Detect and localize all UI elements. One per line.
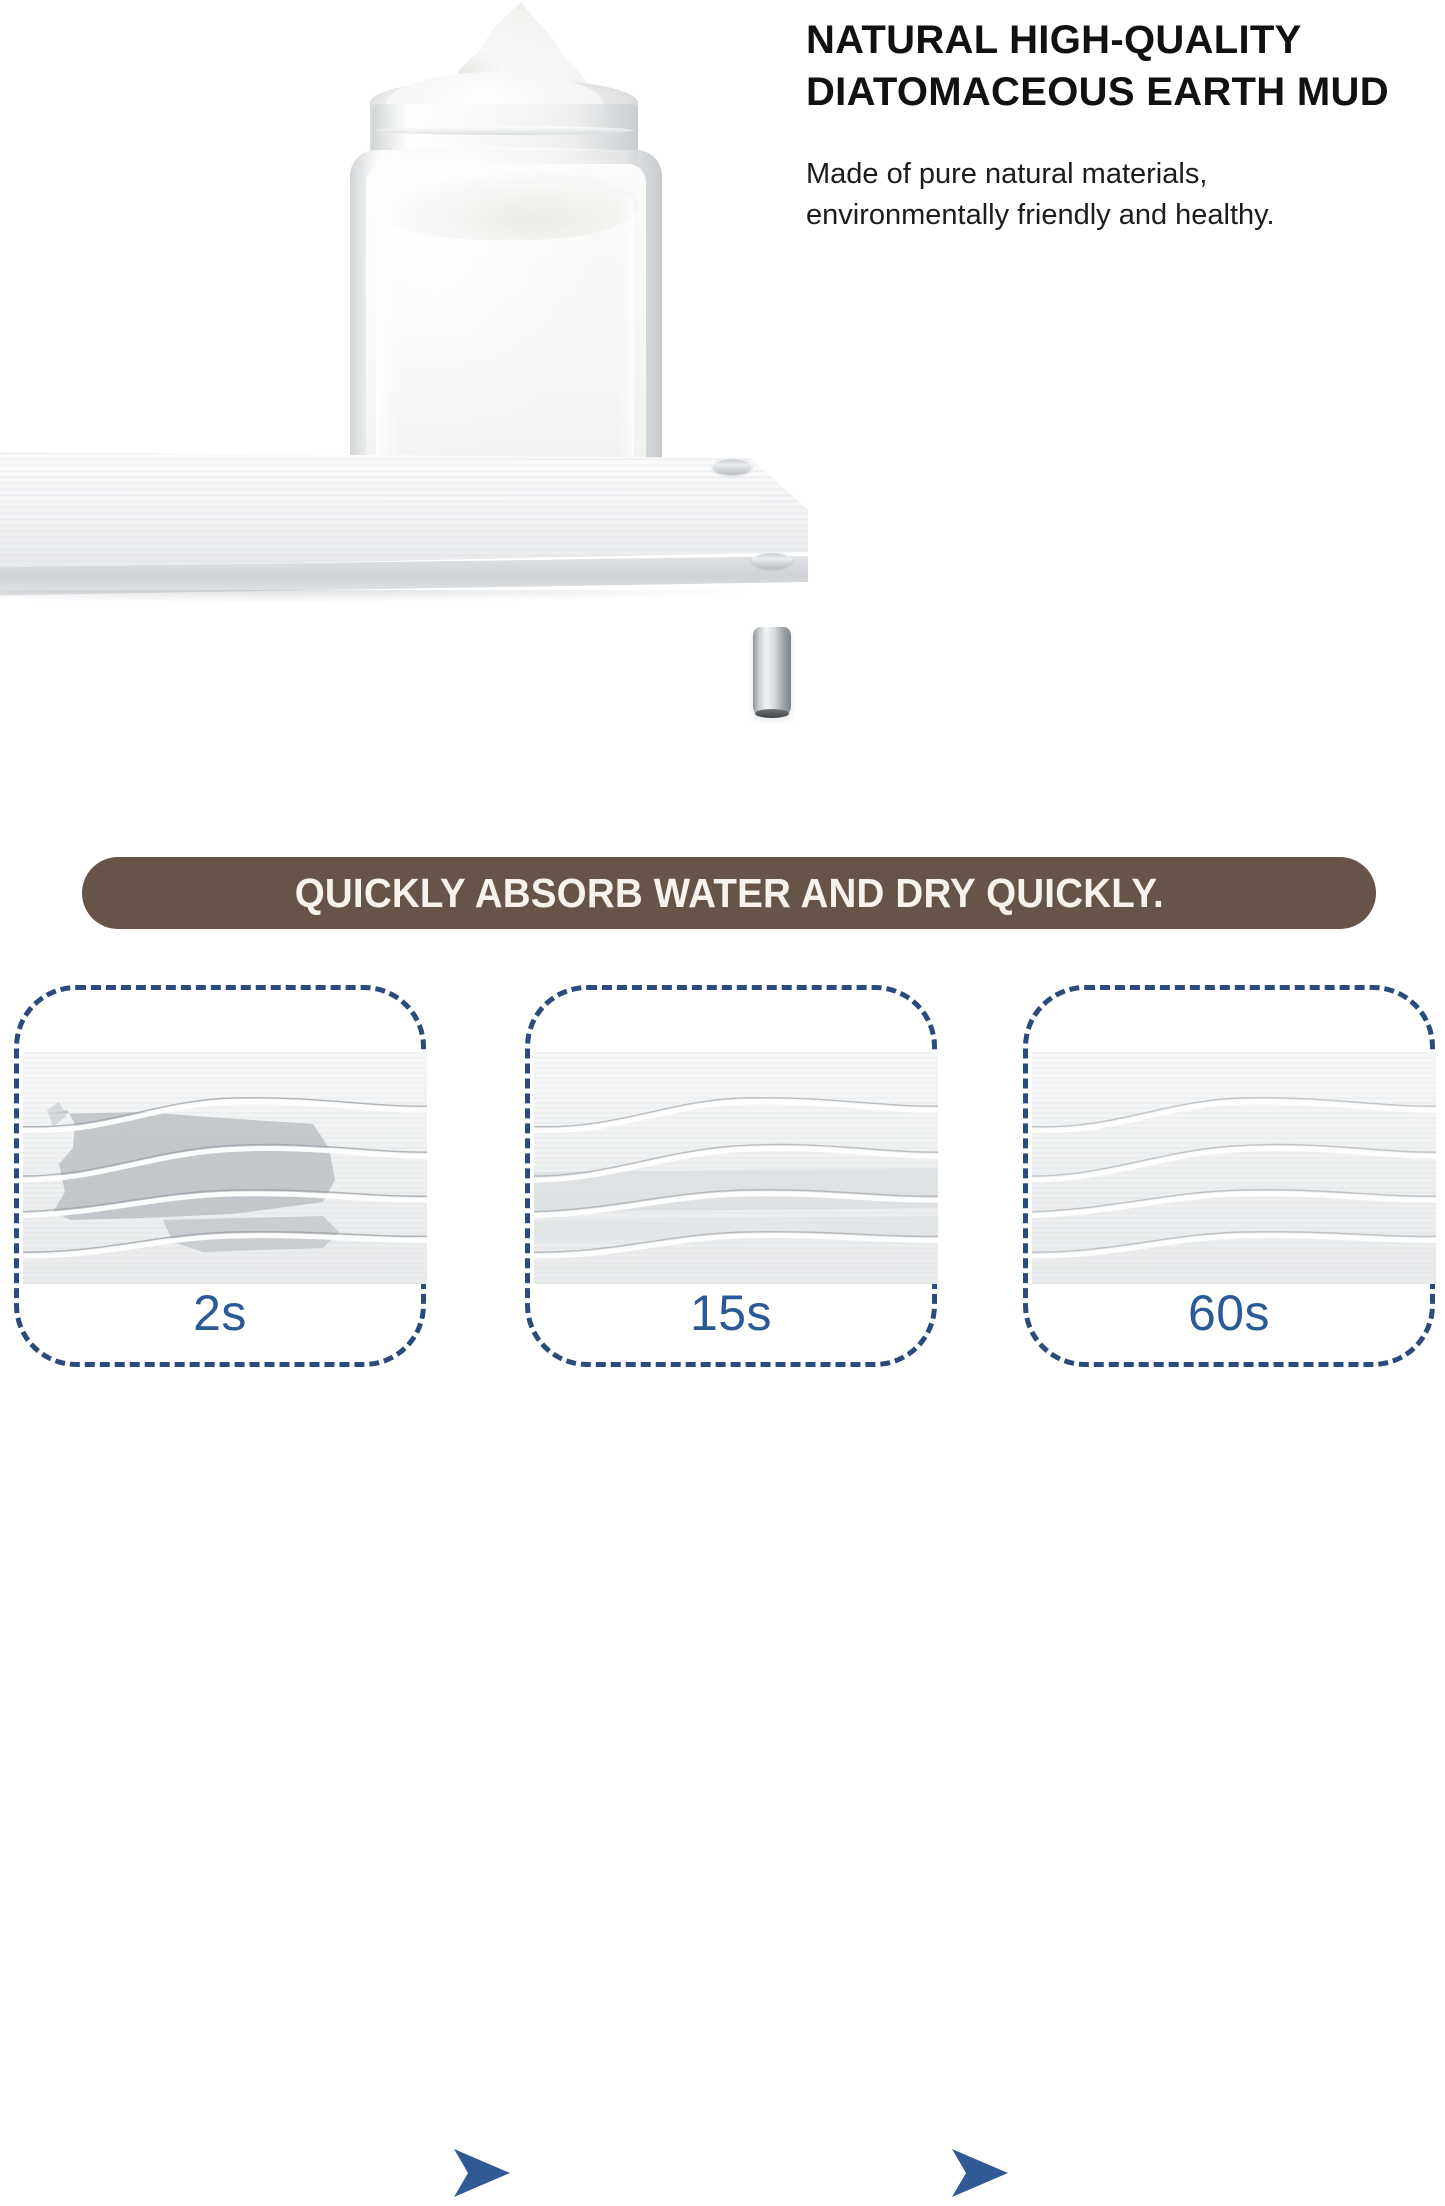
feature-banner-label: QUICKLY ABSORB WATER AND DRY QUICKLY. [294,870,1163,917]
product-photo [0,0,820,760]
stage-label-2: 15s [530,1284,932,1342]
drying-stage-1: 2s [14,985,426,1367]
hero-subtitle: Made of pure natural materials, environm… [806,154,1376,236]
jar-highlight-left [376,190,402,490]
drying-stage-2: 15s [525,985,937,1367]
jar-highlight-right [620,196,634,466]
hero-text-block: NATURAL HIGH-QUALITY DIATOMACEOUS EARTH … [806,14,1426,236]
board-stud-rear [712,458,752,475]
board-shadow [0,590,750,602]
flow-arrow-1-icon [452,2145,512,2201]
drying-stage-3: 60s [1023,985,1435,1367]
mat-texture-2 [534,1052,938,1284]
mat-texture-1 [23,1052,427,1284]
flow-arrow-2-icon [950,2145,1010,2201]
board-support-leg [753,627,791,715]
board-top-surface [0,452,810,570]
jar-powder-fill-line [374,170,638,240]
drying-stages-section: 2s [0,985,1445,1373]
hero-title: NATURAL HIGH-QUALITY DIATOMACEOUS EARTH … [806,14,1426,118]
diatomite-board [0,452,810,602]
stage-label-3: 60s [1028,1284,1430,1342]
mat-texture-3 [1032,1052,1436,1284]
mat-surface-partially-dry [534,1052,938,1284]
feature-banner: QUICKLY ABSORB WATER AND DRY QUICKLY. [82,857,1376,929]
hero-section: NATURAL HIGH-QUALITY DIATOMACEOUS EARTH … [0,0,1445,820]
mat-surface-wet-heavy [23,1052,427,1284]
board-stud-front [752,552,792,569]
stage-label-1: 2s [19,1284,421,1342]
mat-surface-dry [1032,1052,1436,1284]
